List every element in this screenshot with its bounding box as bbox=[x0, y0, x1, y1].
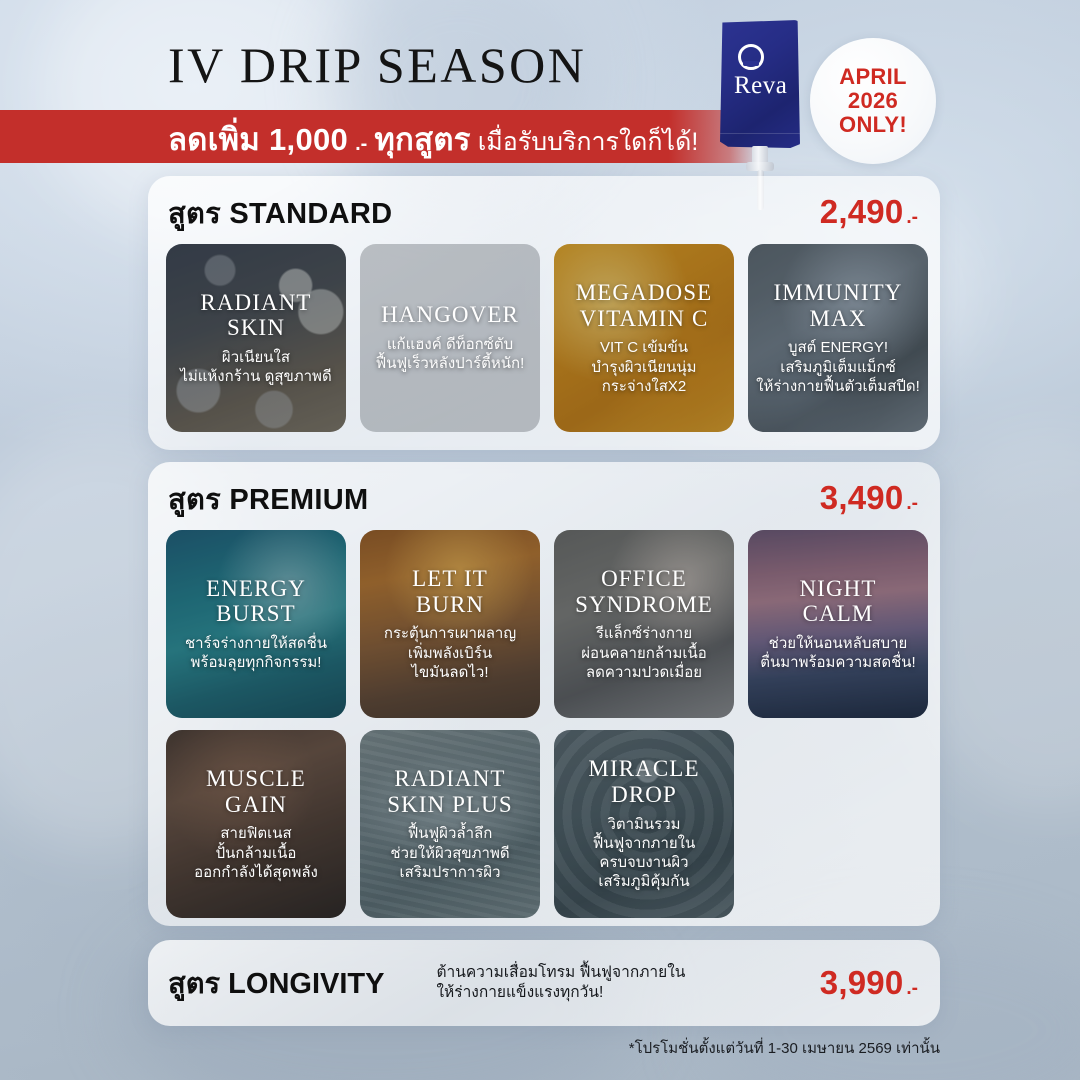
iv-bag-icon: Reva bbox=[720, 20, 800, 148]
program-card[interactable]: LET ITBURNกระตุ้นการเผาผลาญเพิ่มพลังเบิร… bbox=[360, 530, 540, 718]
reva-ring-icon bbox=[738, 44, 764, 70]
iv-bag-logo: Reva bbox=[716, 20, 808, 195]
section-header: สูตร STANDARD 2,490 .- bbox=[168, 190, 918, 236]
program-card[interactable]: ENERGYBURSTชาร์จร่างกายให้สดชื่นพร้อมลุย… bbox=[166, 530, 346, 718]
section-title: สูตร LONGIVITY bbox=[168, 960, 384, 1006]
price-dash: .- bbox=[906, 493, 918, 515]
card-title: RADIANTSKIN bbox=[200, 290, 311, 342]
program-card[interactable]: NIGHTCALMช่วยให้นอนหลับสบายตื่นมาพร้อมคว… bbox=[748, 530, 928, 718]
badge-year: 2026 bbox=[848, 89, 898, 113]
section-header: สูตร PREMIUM 3,490 .- bbox=[168, 476, 918, 522]
price-dash: .- bbox=[906, 207, 918, 229]
promo-condition: เมื่อรับบริการใดก็ได้! bbox=[478, 122, 699, 162]
card-title: MIRACLE DROP bbox=[561, 756, 727, 808]
section-description: ต้านความเสื่อมโทรม ฟื้นฟูจากภายในให้ร่าง… bbox=[404, 963, 799, 1004]
page-title: IV DRIP SEASON bbox=[168, 36, 586, 94]
price-value: 3,990 bbox=[820, 964, 904, 1002]
promo-poster: IV DRIP SEASON ลดเพิ่ม 1,000 .- ทุกสูตร … bbox=[0, 0, 1080, 1080]
section-price: 3,990 .- bbox=[820, 964, 918, 1002]
program-card[interactable]: MUSCLEGAINสายฟิตเนสปั้นกล้ามเนื้อออกกำลั… bbox=[166, 730, 346, 918]
promo-all-formulas: ทุกสูตร bbox=[374, 114, 470, 164]
program-card[interactable]: RADIANTSKIN PLUSฟื้นฟูผิวล้ำลึกช่วยให้ผิ… bbox=[360, 730, 540, 918]
brand-name: Reva bbox=[734, 72, 787, 100]
promo-dash: .- bbox=[355, 133, 367, 156]
card-title: HANGOVER bbox=[381, 302, 519, 328]
card-description: ผิวเนียนใสไม่แห้งกร้าน ดูสุขภาพดี bbox=[180, 348, 331, 386]
section-title: สูตร PREMIUM bbox=[168, 476, 368, 522]
card-title: NIGHTCALM bbox=[799, 576, 876, 628]
program-card[interactable]: HANGOVERแก้แฮงค์ ดีท็อกซ์ตับฟื้นฟูเร็วหล… bbox=[360, 244, 540, 432]
card-description: กระตุ้นการเผาผลาญเพิ่มพลังเบิร์นไขมันลดไ… bbox=[384, 624, 516, 682]
card-title: LET ITBURN bbox=[412, 566, 488, 618]
program-card[interactable]: OFFICESYNDROMEรีแล็กซ์ร่างกายผ่อนคลายกล้… bbox=[554, 530, 734, 718]
card-description: แก้แฮงค์ ดีท็อกซ์ตับฟื้นฟูเร็วหลังปาร์ตี… bbox=[376, 335, 525, 373]
section-standard: สูตร STANDARD 2,490 .- RADIANTSKINผิวเนี… bbox=[148, 176, 940, 450]
section-price: 2,490 .- bbox=[820, 193, 918, 231]
card-title: MUSCLEGAIN bbox=[206, 766, 306, 818]
validity-badge: APRIL 2026 ONLY! bbox=[810, 38, 936, 164]
card-description: สายฟิตเนสปั้นกล้ามเนื้อออกกำลังได้สุดพลั… bbox=[194, 824, 318, 882]
section-title: สูตร STANDARD bbox=[168, 190, 392, 236]
program-card[interactable]: IMMUNITYMAXบูสต์ ENERGY!เสริมภูมิเต็มแม็… bbox=[748, 244, 928, 432]
card-description: VIT C เข้มข้นบำรุงผิวเนียนนุ่มกระจ่างใสX… bbox=[591, 338, 696, 396]
card-description: รีแล็กซ์ร่างกายผ่อนคลายกล้ามเนื้อลดความป… bbox=[581, 624, 706, 682]
price-value: 3,490 bbox=[820, 479, 904, 517]
card-description: ชาร์จร่างกายให้สดชื่นพร้อมลุยทุกกิจกรรม! bbox=[185, 634, 327, 672]
program-card[interactable]: RADIANTSKINผิวเนียนใสไม่แห้งกร้าน ดูสุขภ… bbox=[166, 244, 346, 432]
section-premium: สูตร PREMIUM 3,490 .- ENERGYBURSTชาร์จร่… bbox=[148, 462, 940, 926]
card-title: MEGADOSEVITAMIN C bbox=[576, 280, 713, 332]
program-card[interactable]: MEGADOSEVITAMIN CVIT C เข้มข้นบำรุงผิวเน… bbox=[554, 244, 734, 432]
card-description: บูสต์ ENERGY!เสริมภูมิเต็มแม็กซ์ให้ร่างก… bbox=[756, 338, 920, 396]
price-dash: .- bbox=[906, 978, 918, 1000]
card-row: RADIANTSKINผิวเนียนใสไม่แห้งกร้าน ดูสุขภ… bbox=[166, 244, 928, 432]
section-price: 3,490 .- bbox=[820, 479, 918, 517]
promo-band-text: ลดเพิ่ม 1,000 .- ทุกสูตร เมื่อรับบริการใ… bbox=[168, 114, 698, 159]
card-title: ENERGYBURST bbox=[206, 576, 306, 628]
card-description: วิตามินรวมฟื้นฟูจากภายในครบจบงานผิวเสริม… bbox=[593, 815, 695, 892]
card-description: ช่วยให้นอนหลับสบายตื่นมาพร้อมความสดชื่น! bbox=[760, 634, 915, 672]
card-title: OFFICESYNDROME bbox=[575, 566, 713, 618]
program-card[interactable]: MIRACLE DROPวิตามินรวมฟื้นฟูจากภายในครบจ… bbox=[554, 730, 734, 918]
footnote: *โปรโมชั่นตั้งแต่วันที่ 1-30 เมษายน 2569… bbox=[629, 1036, 940, 1060]
price-value: 2,490 bbox=[820, 193, 904, 231]
badge-month: APRIL bbox=[839, 65, 907, 89]
card-description: ฟื้นฟูผิวล้ำลึกช่วยให้ผิวสุขภาพดีเสริมปร… bbox=[390, 824, 509, 882]
card-title: IMMUNITYMAX bbox=[774, 280, 903, 332]
badge-only: ONLY! bbox=[839, 113, 907, 137]
card-row: ENERGYBURSTชาร์จร่างกายให้สดชื่นพร้อมลุย… bbox=[166, 530, 928, 718]
card-row: MUSCLEGAINสายฟิตเนสปั้นกล้ามเนื้อออกกำลั… bbox=[166, 730, 734, 918]
promo-discount-amount: ลดเพิ่ม 1,000 bbox=[168, 114, 348, 164]
background-streak bbox=[330, 0, 590, 200]
card-title: RADIANTSKIN PLUS bbox=[387, 766, 513, 818]
section-longivity: สูตร LONGIVITY ต้านความเสื่อมโทรม ฟื้นฟู… bbox=[148, 940, 940, 1026]
